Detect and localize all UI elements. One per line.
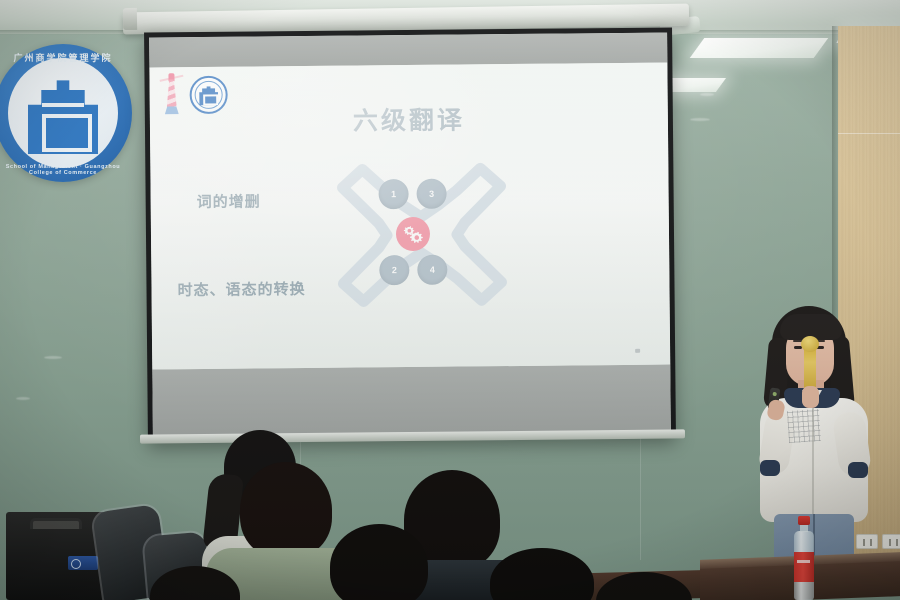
speaker-handle [30, 518, 82, 529]
gears-icon [402, 223, 424, 245]
water-bottle[interactable] [792, 516, 816, 600]
classroom-scene: 广州商学院管理学院 School of Management · Guangzh… [0, 0, 900, 600]
node-number: 1 [391, 189, 396, 199]
screen-surface: 六级翻译 词的增删 时态、语态的转换 1 3 2 [149, 33, 671, 438]
jacket-cuff [848, 462, 868, 478]
school-emblem-wall-logo: 广州商学院管理学院 School of Management · Guangzh… [0, 44, 132, 182]
screen-roller-end-cap [123, 8, 137, 30]
emblem-inner-disc [8, 58, 118, 168]
presentation-slide: 六级翻译 词的增删 时态、语态的转换 1 3 2 [149, 63, 670, 370]
emblem-glyph-icon [28, 80, 98, 154]
projector-letterbox-bottom [152, 365, 671, 438]
bottle-cap [798, 516, 810, 525]
wall-scuff [16, 397, 30, 400]
projector-letterbox-top [149, 33, 667, 68]
projection-screen: 六级翻译 词的增删 时态、语态的转换 1 3 2 [144, 27, 676, 442]
audience-head [240, 462, 332, 558]
diagram-node-3: 3 [416, 179, 446, 209]
screen-speck [635, 349, 640, 353]
bottle-label [794, 552, 814, 582]
presenter-hand-mic [802, 386, 819, 408]
ceiling-panel-light [690, 38, 829, 58]
wall-scuff [690, 118, 710, 121]
audience-head [330, 524, 428, 600]
diagram-hub [396, 217, 430, 251]
wood-panel-seam [838, 133, 900, 134]
slide-label-tense-voice: 时态、语态的转换 [177, 278, 305, 300]
jacket-zipper [812, 404, 814, 516]
bottle-neck [800, 524, 808, 532]
wall-scuff [700, 93, 714, 96]
node-number: 3 [429, 189, 434, 199]
slide-label-word-addition: 词的增删 [197, 190, 261, 212]
jacket-cuff [760, 460, 780, 476]
jacket-pattern [787, 409, 821, 443]
wall-scuff [44, 356, 62, 359]
node-number: 2 [392, 265, 397, 275]
diagram-node-2: 2 [379, 255, 409, 285]
microphone-head[interactable] [801, 336, 819, 352]
speaker-badge [68, 556, 98, 570]
diagram-node-4: 4 [417, 255, 447, 285]
diagram-node-1: 1 [378, 179, 408, 209]
node-number: 4 [430, 265, 435, 275]
slide-title: 六级翻译 [150, 99, 668, 140]
